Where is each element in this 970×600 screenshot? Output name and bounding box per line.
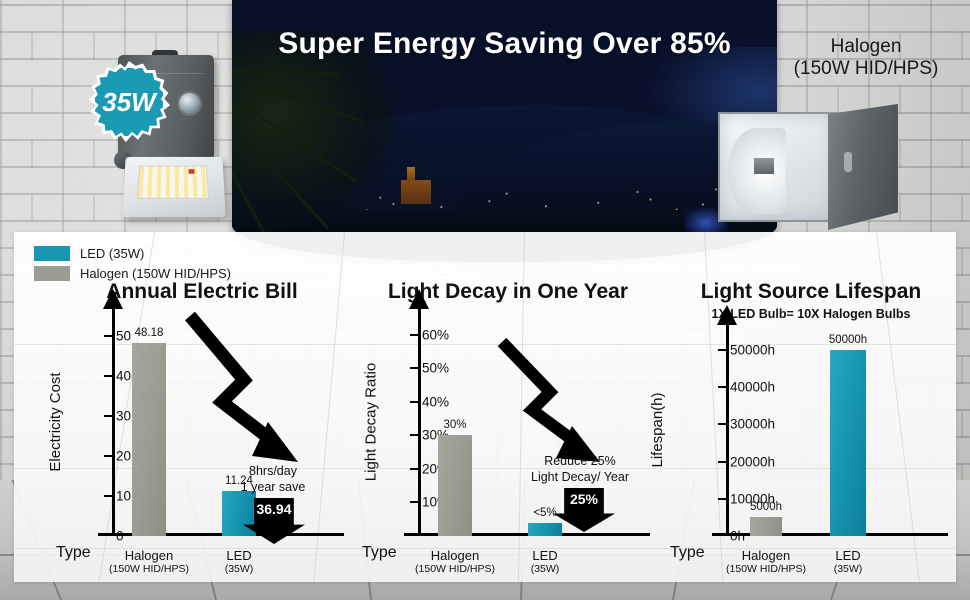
- photocell-sensor-icon: [177, 91, 202, 116]
- bar-value-label: 50000h: [829, 334, 867, 346]
- y-tick-label: 20000h: [730, 454, 775, 469]
- category-name: Halogen: [431, 548, 479, 563]
- legend-swatch-halogen: [34, 266, 70, 281]
- y-tick-mark: [718, 386, 727, 388]
- category-label-led: LED(35W): [225, 548, 254, 576]
- annotation-line-1: 8hrs/day: [249, 464, 297, 478]
- x-axis-label: Type: [362, 544, 397, 562]
- halogen-latch: [844, 152, 852, 172]
- led-diode-panel: [137, 166, 209, 199]
- y-tick-label: 0h: [730, 529, 745, 544]
- annotation-line-2: 1 year save: [241, 480, 306, 494]
- y-tick-label: 60%: [422, 327, 449, 342]
- legend-swatch-led: [34, 246, 70, 261]
- halogen-label-line2: (150W HID/HPS): [768, 58, 964, 80]
- annotation-line-1: Reduce 25%: [544, 454, 616, 468]
- category-name: Halogen: [125, 548, 173, 563]
- y-tick-mark: [410, 501, 419, 503]
- halogen-housing: [828, 104, 898, 230]
- chart-light-source-lifespan: Light Source Lifespan 1X LED Bulb= 10X H…: [674, 280, 948, 582]
- y-tick-label: 50: [116, 329, 131, 344]
- chart-annotation-text: 8hrs/day 1 year save: [241, 464, 306, 495]
- category-sub: (150W HID/HPS): [109, 563, 189, 576]
- category-name: LED: [835, 548, 860, 563]
- category-sub: (150W HID/HPS): [726, 563, 806, 576]
- halogen-label-line1: Halogen: [768, 36, 964, 58]
- category-label-halogen: Halogen(150W HID/HPS): [109, 548, 189, 576]
- y-tick-mark: [104, 455, 113, 457]
- y-tick-label: 20: [116, 449, 131, 464]
- banner-title: Super Energy Saving Over 85%: [232, 27, 777, 61]
- y-axis-label: Lifespan(h): [649, 392, 666, 467]
- bar-value-label: 48.18: [135, 327, 164, 339]
- y-tick-label: 0: [116, 529, 124, 544]
- y-tick-mark: [718, 349, 727, 351]
- downward-trend-arrow: [182, 310, 322, 470]
- x-axis-label: Type: [670, 544, 705, 562]
- chart-plot-area: Light Decay Ratio 10%20%30%40%50%60% 30%…: [366, 308, 650, 536]
- category-name: LED: [226, 548, 251, 563]
- bar-value-label: 5000h: [750, 501, 782, 513]
- category-sub: (35W): [834, 563, 863, 576]
- chart-plot-area: Lifespan(h) 0h10000h20000h30000h40000h50…: [674, 324, 948, 536]
- legend-label-led: LED (35W): [80, 246, 144, 261]
- category-label-led: LED(35W): [531, 548, 560, 576]
- chart-subtitle: 1X LED Bulb= 10X Halogen Bulbs: [674, 307, 948, 321]
- y-tick-label: 30: [116, 409, 131, 424]
- halogen-lens: [718, 112, 838, 222]
- y-tick-mark: [718, 423, 727, 425]
- y-tick-mark: [104, 375, 113, 377]
- y-tick-mark: [410, 434, 419, 436]
- y-tick-mark: [718, 461, 727, 463]
- bar-halogen: 5000h: [750, 517, 782, 536]
- legend-label-halogen: Halogen (150W HID/HPS): [80, 266, 231, 281]
- annotation-line-2: Light Decay/ Year: [531, 470, 629, 484]
- x-axis-label: Type: [56, 544, 91, 562]
- legend-item-halogen: Halogen (150W HID/HPS): [34, 266, 231, 281]
- y-tick-mark: [410, 334, 419, 336]
- category-label-halogen: Halogen(150W HID/HPS): [726, 548, 806, 576]
- category-sub: (35W): [531, 563, 560, 576]
- led-indicator-dot: [189, 169, 195, 174]
- bar-value-label: 30%: [443, 419, 466, 431]
- comparison-charts-panel: LED (35W) Halogen (150W HID/HPS) Annual …: [14, 232, 956, 582]
- y-axis: [726, 324, 729, 536]
- y-tick-mark: [410, 401, 419, 403]
- category-label-halogen: Halogen(150W HID/HPS): [415, 548, 495, 576]
- chart-title: Light Source Lifespan: [674, 280, 948, 304]
- category-sub: (35W): [225, 563, 254, 576]
- led-light-head: [122, 157, 226, 217]
- y-axis-label: Electricity Cost: [47, 372, 64, 471]
- y-tick-label: 30000h: [730, 417, 775, 432]
- bar-led: 50000h: [830, 350, 866, 536]
- led-wall-pack-product-image: 35W: [104, 55, 228, 230]
- y-tick-label: 10: [116, 489, 131, 504]
- y-tick-label: 50%: [422, 361, 449, 376]
- y-tick-label: 40%: [422, 394, 449, 409]
- chart-annual-electric-bill: Annual Electric Bill Electricity Cost 01…: [60, 280, 344, 582]
- halogen-product-label: Halogen (150W HID/HPS): [768, 36, 964, 80]
- category-sub: (150W HID/HPS): [415, 563, 495, 576]
- category-label-led: LED(35W): [834, 548, 863, 576]
- y-axis: [112, 308, 115, 536]
- chart-annotation-text: Reduce 25% Light Decay/ Year: [531, 454, 629, 485]
- hero-banner-night-scene: Super Energy Saving Over 85%: [232, 0, 777, 262]
- y-tick-label: 40: [116, 369, 131, 384]
- y-tick-mark: [410, 468, 419, 470]
- y-tick-mark: [104, 335, 113, 337]
- halogen-fixture-product-image: [718, 104, 906, 230]
- chart-light-decay: Light Decay in One Year Light Decay Rati…: [366, 280, 650, 582]
- category-name: Halogen: [742, 548, 790, 563]
- bar-halogen: 48.18: [132, 343, 166, 536]
- y-axis-label: Light Decay Ratio: [363, 363, 380, 481]
- bar-value-label: <5%: [533, 507, 556, 519]
- y-tick-label: 50000h: [730, 343, 775, 358]
- halogen-bulb: [754, 158, 774, 174]
- y-tick-mark: [410, 367, 419, 369]
- chart-plot-area: Electricity Cost 01020304050 48.1811.24 …: [60, 308, 344, 536]
- bar-halogen: 30%: [438, 435, 472, 536]
- y-tick-label: 40000h: [730, 380, 775, 395]
- y-tick-mark: [104, 415, 113, 417]
- category-name: LED: [532, 548, 557, 563]
- y-tick-mark: [104, 495, 113, 497]
- reduction-badge-arrow: 25%: [553, 488, 615, 532]
- bar-led: <5%: [528, 523, 562, 536]
- legend-item-led: LED (35W): [34, 246, 231, 261]
- y-tick-mark: [718, 498, 727, 500]
- banner-palm-silhouette: [232, 31, 428, 262]
